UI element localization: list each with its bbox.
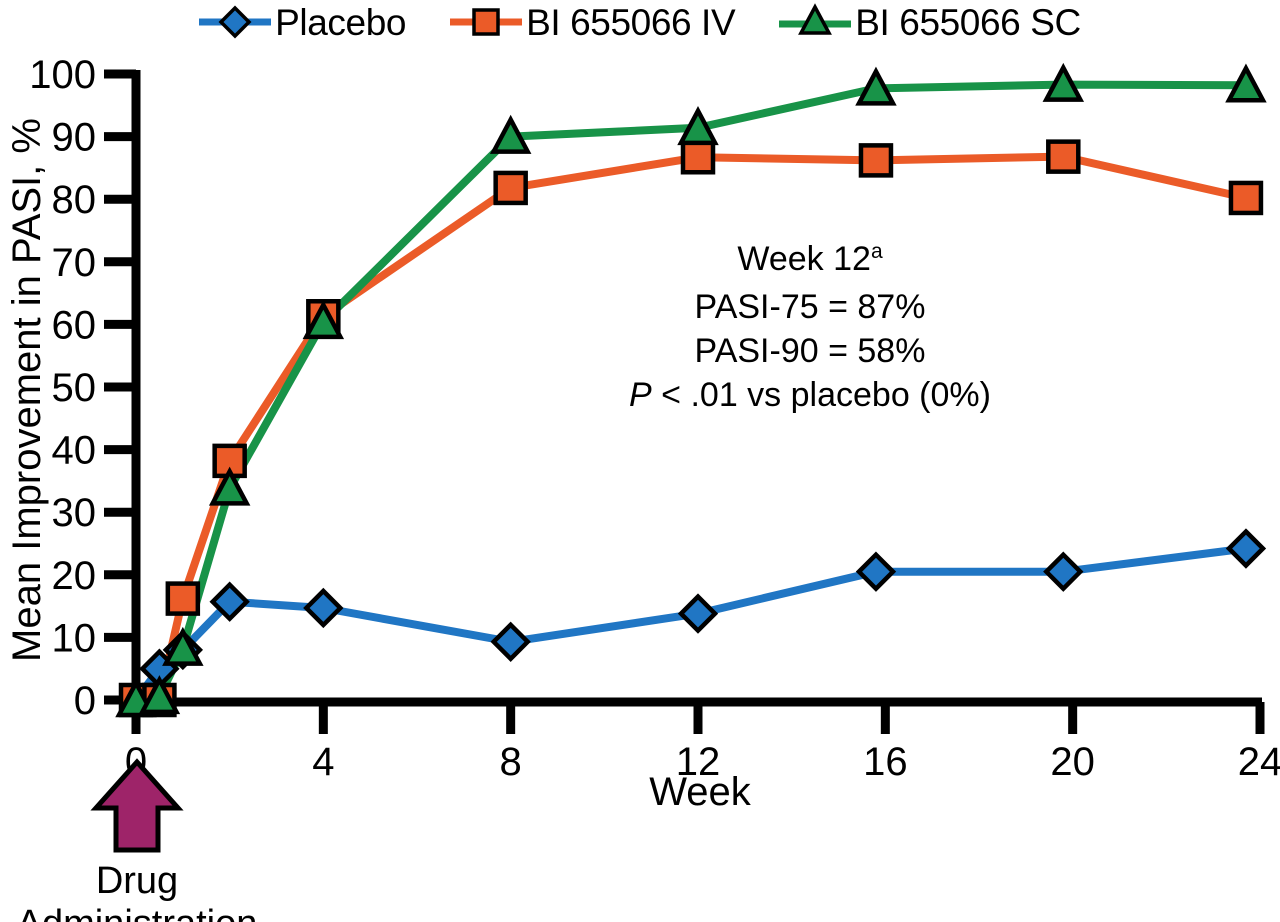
chart-plot-area: 0102030405060708090100 04812162024 Mean … bbox=[0, 0, 1280, 922]
series-markers-bi-655066-iv bbox=[121, 142, 1261, 715]
x-axis-ticks bbox=[136, 702, 1260, 734]
drug-administration-marker: Drug Administration bbox=[17, 762, 258, 922]
data-point-marker-diamond bbox=[1046, 555, 1080, 589]
data-point-marker-square bbox=[1048, 142, 1078, 172]
x-axis-tick-label: 4 bbox=[312, 740, 334, 784]
drug-administration-label-line1: Drug bbox=[96, 860, 178, 902]
drug-administration-label-line2: Administration bbox=[17, 903, 258, 922]
y-axis-tick-label: 50 bbox=[52, 366, 97, 410]
data-point-marker-square bbox=[168, 584, 198, 614]
y-axis-tick-label: 20 bbox=[52, 554, 97, 598]
data-point-marker-diamond bbox=[681, 597, 715, 631]
data-point-marker-diamond bbox=[1229, 532, 1263, 566]
chart-annotation: Week 12a PASI-75 = 87% PASI-90 = 58% P <… bbox=[629, 240, 991, 414]
data-point-marker-square bbox=[496, 173, 526, 203]
pasi-improvement-chart: Placebo BI 655066 IV BI 655066 SC 010203… bbox=[0, 0, 1280, 922]
y-axis-tick-label: 60 bbox=[52, 303, 97, 347]
y-axis-tick-label: 100 bbox=[29, 53, 96, 97]
y-axis-tick-label: 30 bbox=[52, 491, 97, 535]
y-axis-tick-label: 0 bbox=[74, 679, 96, 723]
y-axis-tick-label: 90 bbox=[52, 116, 97, 160]
y-axis-ticks bbox=[104, 74, 136, 700]
data-point-marker-diamond bbox=[306, 591, 340, 625]
annotation-line-pasi90: PASI-90 = 58% bbox=[695, 332, 926, 370]
annotation-line-week12: Week 12a bbox=[737, 240, 883, 278]
drug-administration-arrow-icon bbox=[96, 762, 178, 850]
x-axis-tick-label: 20 bbox=[1050, 740, 1095, 784]
y-axis-tick-label: 10 bbox=[52, 616, 97, 660]
data-point-marker-square bbox=[1231, 183, 1261, 213]
x-axis-tick-label: 8 bbox=[500, 740, 522, 784]
x-axis-title: Week bbox=[649, 770, 752, 814]
annotation-line-pvalue: P < .01 vs placebo (0%) bbox=[629, 376, 991, 414]
annotation-line-pasi75: PASI-75 = 87% bbox=[695, 288, 926, 326]
data-point-marker-square bbox=[861, 145, 891, 175]
data-point-marker-diamond bbox=[859, 555, 893, 589]
x-axis-tick-label: 24 bbox=[1238, 740, 1280, 784]
data-point-marker-square bbox=[683, 142, 713, 172]
y-axis-tick-label: 80 bbox=[52, 178, 97, 222]
data-point-marker-diamond bbox=[494, 625, 528, 659]
y-axis-tick-label: 70 bbox=[52, 241, 97, 285]
x-axis-tick-label: 16 bbox=[863, 740, 908, 784]
y-axis-tick-label: 40 bbox=[52, 429, 97, 473]
series-markers-placebo bbox=[119, 532, 1263, 717]
y-axis-title: Mean Improvement in PASI, % bbox=[5, 118, 49, 662]
